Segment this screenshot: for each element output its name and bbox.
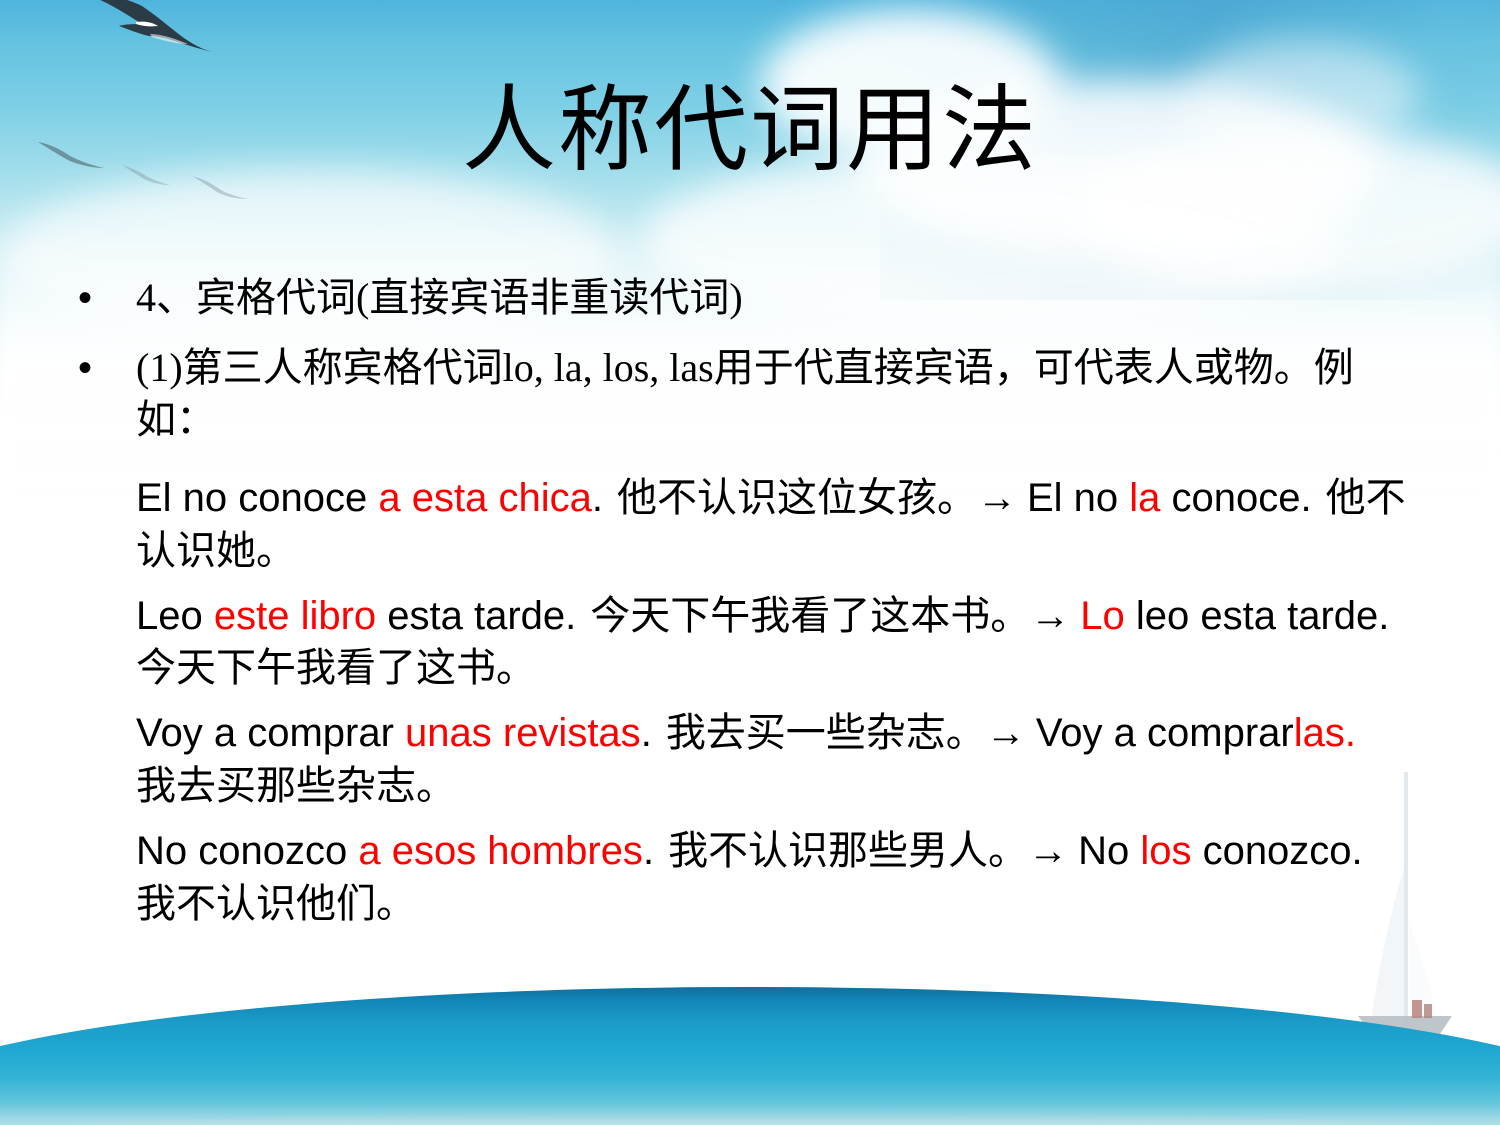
example-2-spanish-post: esta tarde. [376,594,576,638]
example-line-1: El no conoce a esta chica.他不认识这位女孩。→ El … [78,472,1408,578]
example-3-spanish-pre: Voy a comprar [136,711,405,755]
example-2-result-chinese: 今天下午我看了这书。 [136,645,536,690]
example-4-spanish-highlight: a esos hombres [358,829,643,873]
ocean-surface [0,987,1500,1125]
example-3-result-highlight: las. [1294,711,1356,755]
bullet-text-2: (1)第三人称宾格代词lo, la, los, las用于代直接宾语，可代表人或… [136,342,1408,446]
example-1-result-highlight: la [1129,476,1160,520]
bullet-marker-icon: • [78,272,136,324]
example-2-result-post: leo esta tarde. [1125,594,1390,638]
example-2-chinese: 今天下午我看了这本书。 [590,593,1030,638]
example-1-spanish-post: . [592,476,603,520]
example-3-spanish-highlight: unas revistas [405,711,641,755]
example-1-spanish-highlight: a esta chica [378,476,591,520]
example-4-chinese: 我不认识那些男人。 [668,828,1028,873]
transform-arrow-icon: → [977,476,1017,520]
slide-canvas: 人称代词用法 • 4、宾格代词(直接宾语非重读代词) • (1)第三人称宾格代词… [0,0,1500,1125]
bullet-text-1: 4、宾格代词(直接宾语非重读代词) [136,272,1408,324]
example-4-spanish-pre: No conozco [136,829,358,873]
example-4-spanish-post: . [643,829,654,873]
example-line-3: Voy a comprar unas revistas.我去买一些杂志。→ Vo… [78,707,1408,813]
example-line-2: Leo este libro esta tarde.今天下午我看了这本书。→ L… [78,590,1408,696]
transform-arrow-icon: → [986,711,1026,755]
example-3-spanish-post: . [641,711,652,755]
example-1-result-pre: El no [1027,476,1129,520]
page-title: 人称代词用法 [0,82,1500,181]
example-4-result-highlight: los [1140,829,1191,873]
example-2-result-highlight: Lo [1080,594,1125,638]
slide-body: • 4、宾格代词(直接宾语非重读代词) • (1)第三人称宾格代词lo, la,… [78,272,1408,930]
example-line-4: No conozco a esos hombres.我不认识那些男人。→ No … [78,825,1408,931]
example-3-result-chinese: 我去买那些杂志。 [136,763,456,808]
example-3-chinese: 我去买一些杂志。 [666,710,986,755]
example-4-result-chinese: 我不认识他们。 [136,881,416,926]
seagull-icon [86,0,216,54]
example-3-result-pre: Voy a comprar [1036,711,1294,755]
bullet-item-2: • (1)第三人称宾格代词lo, la, los, las用于代直接宾语，可代表… [78,342,1408,446]
bullet-marker-icon: • [78,342,136,394]
transform-arrow-icon: → [1030,594,1070,638]
example-4-result-post: conozco. [1191,829,1362,873]
example-4-result-pre: No [1078,829,1140,873]
example-1-chinese: 他不认识这位女孩。 [617,475,977,520]
bullet-item-1: • 4、宾格代词(直接宾语非重读代词) [78,272,1408,324]
example-2-spanish-highlight: este libro [214,594,376,638]
example-2-spanish-pre: Leo [136,594,214,638]
ocean-band [0,965,1500,1125]
example-1-spanish-pre: El no conoce [136,476,378,520]
example-1-result-post: conoce. [1160,476,1311,520]
transform-arrow-icon: → [1028,829,1068,873]
